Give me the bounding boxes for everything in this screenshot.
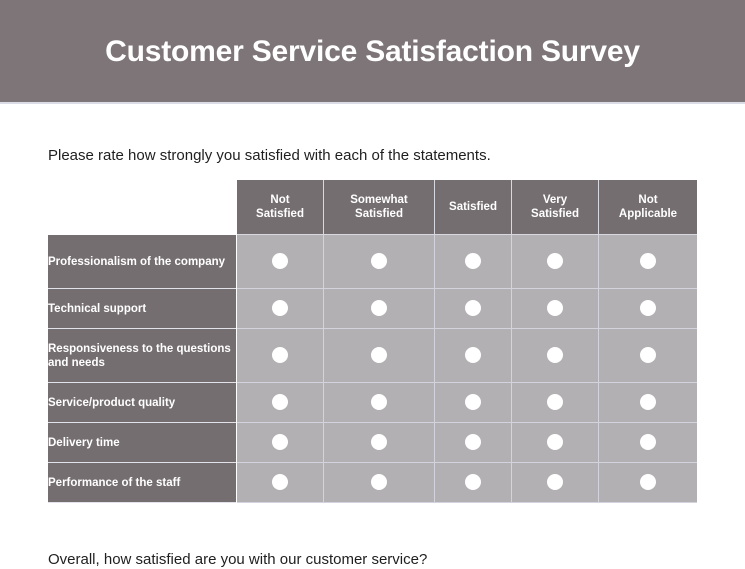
radio-cell-delivery-time-not-applicable[interactable] [599,423,697,463]
column-header-line1: Satisfied [435,200,511,214]
column-header-line2: Satisfied [237,207,323,221]
column-header-line2: Satisfied [512,207,598,221]
satisfaction-matrix-table: Not Satisfied Somewhat Satisfied Satisfi… [48,180,697,503]
column-header-very-satisfied: Very Satisfied [512,180,599,235]
radio-cell-performance-not-satisfied[interactable] [237,463,324,503]
instruction-text: Please rate how strongly you satisfied w… [48,147,491,165]
radio-button-icon[interactable] [371,300,387,316]
radio-button-icon[interactable] [371,394,387,410]
radio-cell-responsiveness-not-applicable[interactable] [599,329,697,383]
radio-button-icon[interactable] [272,434,288,450]
radio-cell-professionalism-not-satisfied[interactable] [237,235,324,289]
radio-cell-technical-support-satisfied[interactable] [435,289,512,329]
column-header-line1: Very [512,193,598,207]
column-header-line1: Not [599,193,697,207]
radio-cell-service-quality-not-applicable[interactable] [599,383,697,423]
radio-cell-responsiveness-not-satisfied[interactable] [237,329,324,383]
radio-button-icon[interactable] [371,347,387,363]
column-header-line1: Not [237,193,323,207]
radio-button-icon[interactable] [640,434,656,450]
radio-button-icon[interactable] [465,434,481,450]
radio-button-icon[interactable] [371,434,387,450]
row-label-delivery-time: Delivery time [48,423,236,463]
table-row: Professionalism of the company [48,235,697,289]
table-row: Delivery time [48,423,697,463]
radio-cell-responsiveness-somewhat-satisfied[interactable] [324,329,435,383]
radio-button-icon[interactable] [547,394,563,410]
radio-cell-service-quality-not-satisfied[interactable] [237,383,324,423]
radio-cell-service-quality-somewhat-satisfied[interactable] [324,383,435,423]
radio-cell-technical-support-very-satisfied[interactable] [512,289,599,329]
radio-button-icon[interactable] [547,253,563,269]
radio-cell-delivery-time-very-satisfied[interactable] [512,423,599,463]
table-row: Performance of the staff [48,463,697,503]
radio-button-icon[interactable] [371,474,387,490]
radio-cell-service-quality-satisfied[interactable] [435,383,512,423]
page-header: Customer Service Satisfaction Survey [0,0,745,104]
radio-cell-performance-somewhat-satisfied[interactable] [324,463,435,503]
column-header-not-applicable: Not Applicable [599,180,697,235]
radio-cell-professionalism-somewhat-satisfied[interactable] [324,235,435,289]
matrix-header-row: Not Satisfied Somewhat Satisfied Satisfi… [48,180,697,235]
radio-button-icon[interactable] [272,474,288,490]
radio-cell-responsiveness-very-satisfied[interactable] [512,329,599,383]
row-label-service-product-quality: Service/product quality [48,383,236,423]
radio-button-icon[interactable] [272,394,288,410]
radio-button-icon[interactable] [640,253,656,269]
radio-button-icon[interactable] [547,474,563,490]
table-row: Technical support [48,289,697,329]
radio-cell-performance-very-satisfied[interactable] [512,463,599,503]
radio-button-icon[interactable] [465,347,481,363]
radio-button-icon[interactable] [465,394,481,410]
radio-button-icon[interactable] [547,434,563,450]
radio-button-icon[interactable] [547,347,563,363]
radio-cell-performance-satisfied[interactable] [435,463,512,503]
radio-button-icon[interactable] [465,300,481,316]
table-row: Responsiveness to the questions and need… [48,329,697,383]
radio-button-icon[interactable] [371,253,387,269]
column-header-line2: Applicable [599,207,697,221]
radio-cell-responsiveness-satisfied[interactable] [435,329,512,383]
radio-cell-professionalism-not-applicable[interactable] [599,235,697,289]
radio-cell-technical-support-not-applicable[interactable] [599,289,697,329]
matrix-corner-cell [48,180,236,235]
column-header-not-satisfied: Not Satisfied [237,180,324,235]
row-label-technical-support: Technical support [48,289,236,329]
radio-cell-performance-not-applicable[interactable] [599,463,697,503]
radio-cell-technical-support-not-satisfied[interactable] [237,289,324,329]
radio-cell-professionalism-satisfied[interactable] [435,235,512,289]
survey-page: Customer Service Satisfaction Survey Ple… [0,0,745,567]
radio-button-icon[interactable] [465,474,481,490]
page-title: Customer Service Satisfaction Survey [105,35,640,68]
column-header-line1: Somewhat [324,193,434,207]
row-label-responsiveness: Responsiveness to the questions and need… [48,329,236,383]
radio-button-icon[interactable] [272,347,288,363]
radio-cell-delivery-time-satisfied[interactable] [435,423,512,463]
radio-button-icon[interactable] [640,394,656,410]
table-row: Service/product quality [48,383,697,423]
radio-button-icon[interactable] [272,253,288,269]
radio-button-icon[interactable] [640,474,656,490]
radio-cell-service-quality-very-satisfied[interactable] [512,383,599,423]
column-header-somewhat-satisfied: Somewhat Satisfied [324,180,435,235]
radio-button-icon[interactable] [547,300,563,316]
radio-cell-delivery-time-somewhat-satisfied[interactable] [324,423,435,463]
bottom-question-text: Overall, how satisfied are you with our … [48,551,427,569]
column-header-satisfied: Satisfied [435,180,512,235]
column-header-line2: Satisfied [324,207,434,221]
radio-cell-professionalism-very-satisfied[interactable] [512,235,599,289]
radio-button-icon[interactable] [272,300,288,316]
radio-button-icon[interactable] [640,300,656,316]
radio-cell-technical-support-somewhat-satisfied[interactable] [324,289,435,329]
radio-button-icon[interactable] [640,347,656,363]
radio-button-icon[interactable] [465,253,481,269]
row-label-performance-of-staff: Performance of the staff [48,463,236,503]
row-label-professionalism: Professionalism of the company [48,235,236,289]
radio-cell-delivery-time-not-satisfied[interactable] [237,423,324,463]
